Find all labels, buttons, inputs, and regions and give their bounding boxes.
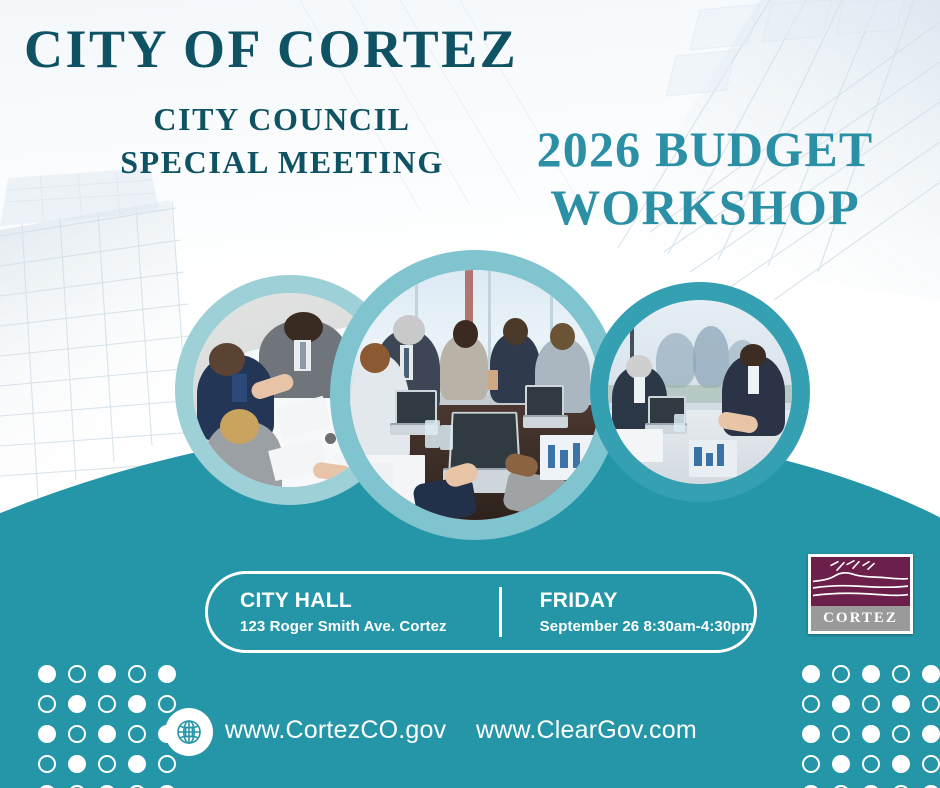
dot-1-3 [128, 695, 146, 713]
dot-0-0 [802, 665, 820, 683]
event-title-line-1: 2026 BUDGET [480, 120, 930, 178]
dot-1-4 [158, 695, 176, 713]
dot-3-1 [832, 755, 850, 773]
dot-2-4 [922, 725, 940, 743]
dot-2-4 [158, 725, 176, 743]
dot-2-1 [68, 725, 86, 743]
photo-right-image [608, 300, 792, 484]
dot-3-0 [38, 755, 56, 773]
dot-1-2 [98, 695, 116, 713]
meeting-subtitle: CITY COUNCIL SPECIAL MEETING [108, 98, 456, 183]
dot-2-3 [892, 725, 910, 743]
event-info-bar: CITY HALL 123 Roger Smith Ave. Cortez FR… [205, 571, 757, 653]
cortez-logo: CORTEZ [808, 554, 913, 634]
schedule-block: FRIDAY September 26 8:30am-4:30pm [502, 589, 754, 634]
dot-3-3 [128, 755, 146, 773]
dot-0-4 [158, 665, 176, 683]
dot-1-3 [892, 695, 910, 713]
location-heading: CITY HALL [240, 589, 447, 612]
dot-2-2 [98, 725, 116, 743]
logo-wordmark-band: CORTEZ [811, 606, 910, 631]
dot-grid-right [802, 665, 940, 788]
dot-2-0 [802, 725, 820, 743]
website-url-secondary[interactable]: www.ClearGov.com [476, 716, 697, 745]
dot-3-4 [158, 755, 176, 773]
logo-landscape-graphic [811, 557, 910, 606]
dot-3-2 [98, 755, 116, 773]
event-title: 2026 BUDGET WORKSHOP [480, 120, 930, 236]
logo-mesa-svg [811, 557, 910, 606]
dot-0-1 [68, 665, 86, 683]
dot-3-0 [802, 755, 820, 773]
dot-1-1 [832, 695, 850, 713]
photo-circle-right [590, 282, 810, 502]
dot-0-2 [98, 665, 116, 683]
schedule-heading: FRIDAY [540, 589, 754, 612]
subtitle-line-2: SPECIAL MEETING [108, 141, 456, 184]
dot-0-3 [128, 665, 146, 683]
schedule-detail: September 26 8:30am-4:30pm [540, 618, 754, 635]
dot-1-1 [68, 695, 86, 713]
location-block: CITY HALL 123 Roger Smith Ave. Cortez [208, 589, 447, 634]
dot-2-2 [862, 725, 880, 743]
dot-2-0 [38, 725, 56, 743]
dot-1-0 [38, 695, 56, 713]
dot-0-2 [862, 665, 880, 683]
dot-1-0 [802, 695, 820, 713]
photo-cluster [175, 250, 765, 530]
dot-3-1 [68, 755, 86, 773]
website-url-primary[interactable]: www.CortezCO.gov [225, 716, 446, 745]
subtitle-line-1: CITY COUNCIL [108, 98, 456, 141]
event-title-line-2: WORKSHOP [480, 178, 930, 236]
page-title: CITY OF CORTEZ [24, 22, 518, 76]
location-address: 123 Roger Smith Ave. Cortez [240, 618, 447, 635]
photo-circle-center [330, 250, 620, 540]
dot-0-4 [922, 665, 940, 683]
photo-center-image [350, 270, 600, 520]
dot-0-3 [892, 665, 910, 683]
dot-3-3 [892, 755, 910, 773]
dot-1-2 [862, 695, 880, 713]
dot-2-1 [832, 725, 850, 743]
poster-canvas: CITY OF CORTEZ CITY COUNCIL SPECIAL MEET… [0, 0, 940, 788]
dot-3-2 [862, 755, 880, 773]
dot-3-4 [922, 755, 940, 773]
dot-0-0 [38, 665, 56, 683]
dot-grid-left [38, 665, 182, 788]
logo-inner: CORTEZ [811, 557, 910, 631]
logo-wordmark: CORTEZ [823, 610, 898, 627]
dot-0-1 [832, 665, 850, 683]
dot-1-4 [922, 695, 940, 713]
dot-2-3 [128, 725, 146, 743]
